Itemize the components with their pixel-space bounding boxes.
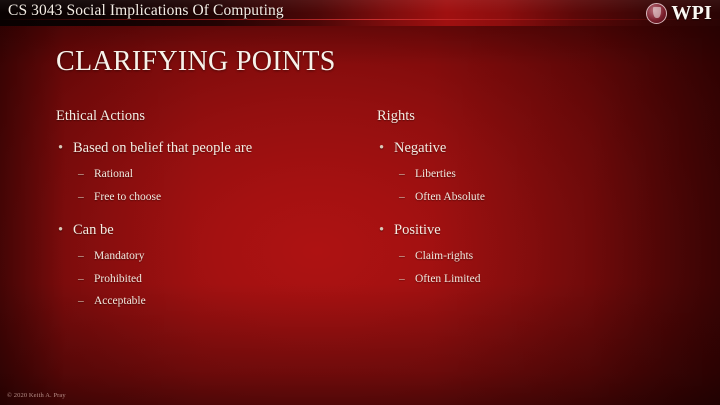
sub-bullet-item: – Free to choose (56, 186, 366, 208)
sub-bullet-item: – Liberties (377, 163, 687, 185)
sub-bullet-marker-icon: – (399, 245, 405, 267)
slide-header-bar: CS 3043 Social Implications Of Computing… (0, 0, 720, 26)
bullet-item: • Can be (56, 220, 366, 241)
sub-bullet-label: Rational (94, 168, 133, 180)
sub-bullet-item: – Acceptable (56, 290, 366, 312)
sub-bullet-item: – Rational (56, 163, 366, 185)
sub-bullet-item: – Mandatory (56, 245, 366, 267)
bullet-group: • Can be – Mandatory – Prohibited – Acce… (56, 220, 366, 312)
content-column-right: Rights • Negative – Liberties – Often Ab… (377, 108, 687, 290)
sub-bullet-marker-icon: – (78, 186, 84, 208)
sub-bullet-label: Free to choose (94, 191, 161, 203)
bullet-group: • Negative – Liberties – Often Absolute (377, 138, 687, 208)
wpi-logo-text: WPI (671, 3, 712, 23)
bullet-label: Positive (394, 222, 441, 238)
copyright-footer: © 2020 Keith A. Pray (7, 392, 66, 399)
bullet-item: • Negative (377, 138, 687, 159)
sub-bullet-label: Claim-rights (415, 250, 473, 262)
sub-bullet-label: Often Limited (415, 273, 480, 285)
sub-bullet-marker-icon: – (78, 290, 84, 312)
sub-bullet-label: Acceptable (94, 295, 146, 307)
bullet-item: • Positive (377, 220, 687, 241)
bullet-marker-icon: • (58, 138, 63, 159)
sub-bullet-marker-icon: – (78, 245, 84, 267)
content-column-left: Ethical Actions • Based on belief that p… (56, 108, 366, 313)
slide-title: CLARIFYING POINTS (56, 46, 336, 78)
sub-bullet-marker-icon: – (399, 268, 405, 290)
bullet-marker-icon: • (379, 138, 384, 159)
bullet-group: • Positive – Claim-rights – Often Limite… (377, 220, 687, 290)
bullet-group: • Based on belief that people are – Rati… (56, 138, 366, 208)
sub-bullet-item: – Claim-rights (377, 245, 687, 267)
bullet-marker-icon: • (379, 220, 384, 241)
sub-bullet-item: – Prohibited (56, 268, 366, 290)
sub-bullet-marker-icon: – (399, 186, 405, 208)
sub-bullet-marker-icon: – (78, 163, 84, 185)
presentation-slide: CS 3043 Social Implications Of Computing… (0, 0, 720, 405)
bullet-item: • Based on belief that people are (56, 138, 366, 159)
wpi-logo: WPI (646, 1, 712, 25)
sub-bullet-label: Often Absolute (415, 191, 485, 203)
column-heading: Ethical Actions (56, 108, 366, 125)
sub-bullet-item: – Often Limited (377, 268, 687, 290)
bullet-marker-icon: • (58, 220, 63, 241)
bullet-label: Based on belief that people are (73, 140, 252, 156)
sub-bullet-marker-icon: – (78, 268, 84, 290)
wpi-seal-icon (646, 3, 667, 24)
sub-bullet-label: Liberties (415, 168, 456, 180)
column-heading: Rights (377, 108, 687, 125)
sub-bullet-item: – Often Absolute (377, 186, 687, 208)
course-title: CS 3043 Social Implications Of Computing (8, 2, 284, 20)
sub-bullet-label: Mandatory (94, 250, 144, 262)
sub-bullet-label: Prohibited (94, 273, 142, 285)
bullet-label: Negative (394, 140, 446, 156)
sub-bullet-marker-icon: – (399, 163, 405, 185)
bullet-label: Can be (73, 222, 114, 238)
